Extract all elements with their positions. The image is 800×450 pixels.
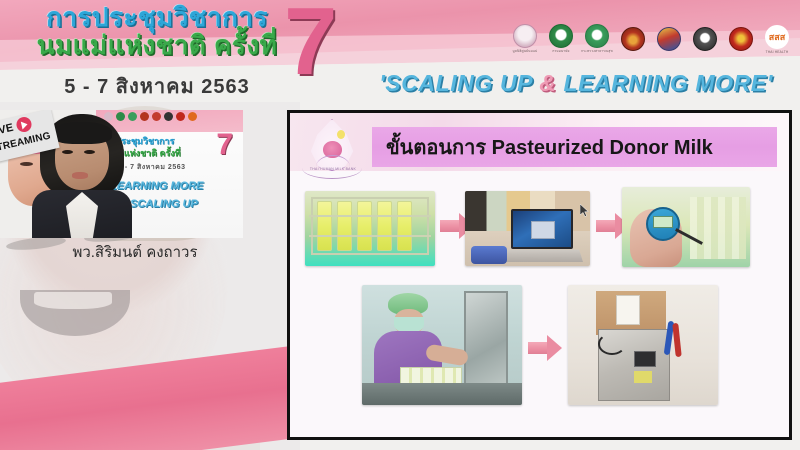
tagline-ampersand: & <box>539 70 556 96</box>
mouse-cursor <box>580 204 589 217</box>
milk-bottle <box>337 201 352 251</box>
laptop-keyboard <box>503 250 583 262</box>
child-teeth-shape <box>34 292 112 309</box>
speaker-bangs <box>52 122 112 144</box>
inner-logo-8-icon <box>188 112 197 121</box>
arrow-right-3 <box>528 335 562 361</box>
inner-logo-3-icon <box>128 112 137 121</box>
pasteurizer-control-panel <box>634 351 656 367</box>
milk-bottle <box>317 201 332 251</box>
logo-royal-patronage-seal: มูลนิธิศูนย์นมแม่ <box>510 22 540 56</box>
logo-thaihealth-sss: สสสTHAI HEALTH <box>762 22 792 56</box>
inner-logo-7-icon <box>176 112 185 121</box>
milk-drop-sparkle-icon <box>337 130 345 139</box>
arrow-head <box>547 335 562 361</box>
arrow-shaft <box>440 220 461 232</box>
logo-ring-text: THAI HUMAN MILK BANK <box>304 167 362 171</box>
live-label: LIVE <box>0 121 15 138</box>
rack-shelf <box>309 215 431 217</box>
instruction-sign <box>616 295 640 325</box>
university-crest-seal-icon <box>657 27 681 51</box>
presentation-screen: การประชุมวิชาการ นมแม่แห่งชาติ ครั้งที่ … <box>0 0 800 450</box>
logo-caption: กรมอนามัย <box>552 49 569 54</box>
conference-date: 5 - 7 สิงหาคม 2563 <box>22 70 292 102</box>
milk-bottle <box>377 201 392 251</box>
logo-caption: มูลนิธิศูนย์นมแม่ <box>513 49 538 54</box>
logo-university-crest-seal <box>654 22 684 56</box>
red-gold-seal-icon <box>729 27 753 51</box>
timer-lcd-display <box>653 216 673 228</box>
thaihealth-sss-icon: สสส <box>765 25 789 49</box>
photo-pasteurizer-machine <box>568 285 718 405</box>
milk-bottle <box>397 201 412 251</box>
organization-logo-strip: มูลนิธิศูนย์นมแม่ กรมอนามัย กระทรวงสาธาร… <box>510 22 792 56</box>
ministry-public-health-seal-icon <box>585 24 609 48</box>
conference-title: การประชุมวิชาการ นมแม่แห่งชาติ ครั้งที่ <box>22 4 292 58</box>
edition-number: 7 <box>284 0 337 90</box>
inner-slide-edition-number: 7 <box>216 130 233 160</box>
photo-digital-thermometer-timer <box>622 187 750 267</box>
conference-tagline: 'SCALING UP & LEARNING MORE' <box>360 70 792 97</box>
inner-logo-6-icon <box>164 112 173 121</box>
logo-royal-emblem-seal <box>618 22 648 56</box>
main-slide-panel: THAI HUMAN MILK BANK ขั้นตอนการ Pasteuri… <box>287 110 792 440</box>
milk-bottle <box>357 201 372 251</box>
slide-title-banner: ขั้นตอนการ Pasteurized Donor Milk <box>372 127 777 167</box>
inner-slide-tagline-line2: SCALING UP <box>130 198 198 210</box>
photo-milk-bottles-in-racks <box>305 191 435 266</box>
thai-human-milk-bank-logo: THAI HUMAN MILK BANK <box>300 117 366 179</box>
conference-title-line2: นมแม่แห่งชาติ ครั้งที่ <box>22 32 292 58</box>
royal-emblem-seal-icon <box>621 27 645 51</box>
logo-caption: THAI HEALTH <box>766 50 789 54</box>
rack-shelf <box>309 235 431 237</box>
conference-title-line1: การประชุมวิชาการ <box>22 4 292 30</box>
logo-thai-health-green-seal: กรมอนามัย <box>546 22 576 56</box>
arrow-shaft <box>528 342 549 354</box>
baby-eye-left <box>20 162 33 166</box>
tagline-prefix: 'SCALING UP <box>379 70 539 96</box>
speaker-eye-left <box>62 150 73 154</box>
play-icon <box>15 116 33 134</box>
photo-nurse-handling-milk-bottles <box>362 285 522 405</box>
thai-health-green-seal-icon <box>549 24 573 48</box>
arrow-shaft <box>596 220 617 232</box>
power-cord <box>598 333 626 355</box>
royal-patronage-seal-icon <box>513 24 537 48</box>
logo-black-garuda-seal <box>690 22 720 56</box>
speaker-mouth <box>72 172 88 179</box>
pasteurizer-label <box>634 371 652 383</box>
laptop-screen <box>511 209 573 249</box>
logo-caption: กระทรวงสาธารณสุข <box>581 49 613 54</box>
logo-ministry-public-health-seal: กระทรวงสาธารณสุข <box>582 22 612 56</box>
red-hose <box>672 323 682 357</box>
speaker-video-panel[interactable]: การประชุมวิชาการ นมแม่แห่งชาติ ครั้งที่ … <box>0 110 243 238</box>
screen-dialog <box>531 221 555 239</box>
inner-logo-5-icon <box>152 112 161 121</box>
logo-red-gold-seal <box>726 22 756 56</box>
work-counter <box>362 383 522 405</box>
speaker-eye-right <box>84 150 95 154</box>
photo-laptop-data-entry <box>465 191 590 266</box>
black-garuda-seal-icon <box>693 27 717 51</box>
lab-glassware <box>690 197 746 259</box>
conference-header: การประชุมวิชาการ นมแม่แห่งชาติ ครั้งที่ … <box>0 0 800 100</box>
inner-slide-date: 5 - 7 สิงหาคม 2563 <box>118 162 186 173</box>
speaker-name-caption: พว.สิริมนต์ คงถาวร <box>0 240 270 264</box>
inner-logo-4-icon <box>140 112 149 121</box>
tagline-suffix: LEARNING MORE' <box>556 70 772 96</box>
computer-mouse <box>471 246 507 264</box>
